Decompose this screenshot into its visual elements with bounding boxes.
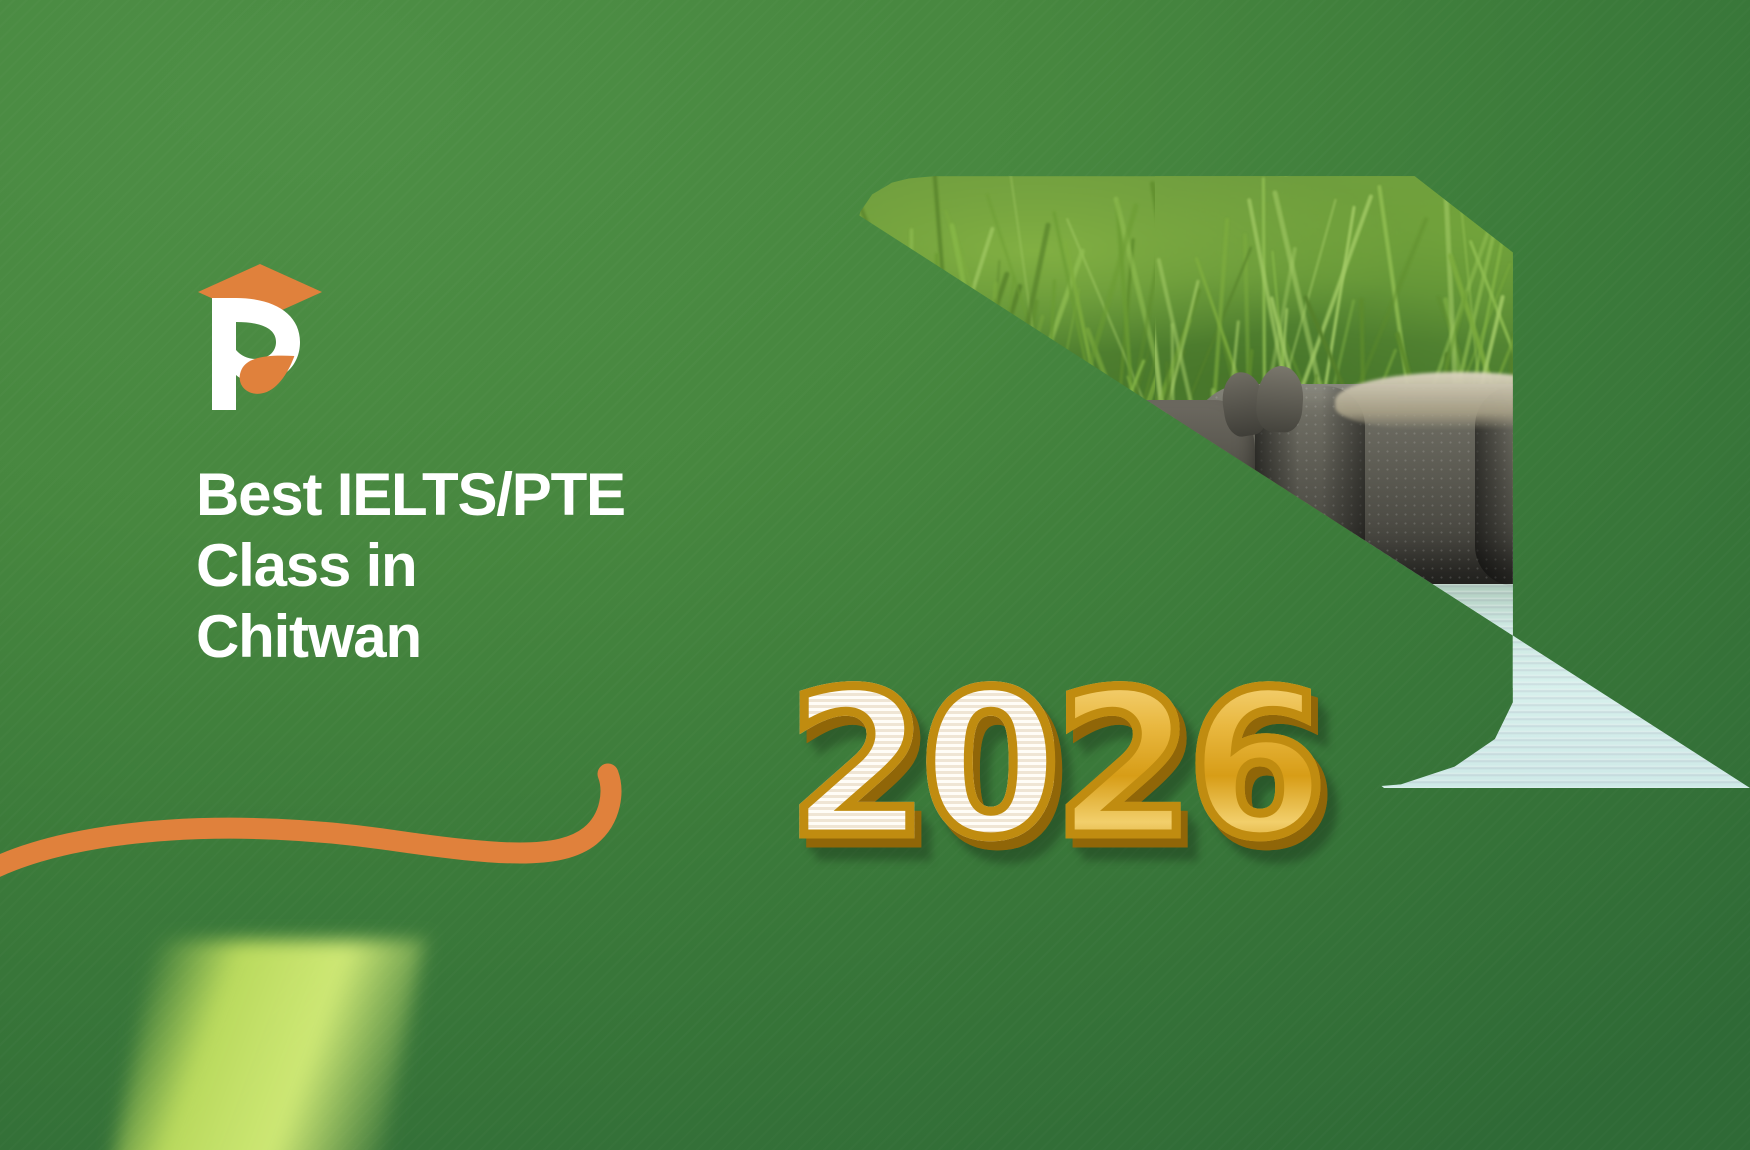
year-digit-3: 2 (1054, 666, 1187, 866)
promo-banner: Best IELTS/PTE Class in Chitwan 2 0 2 6 (0, 0, 1750, 1150)
left-content: Best IELTS/PTE Class in Chitwan (196, 262, 816, 713)
lime-light-beam-decoration (105, 940, 426, 1150)
year-digit-4: 6 (1188, 666, 1321, 866)
brand-logo[interactable] (196, 262, 324, 414)
orange-swoosh-decoration (0, 740, 710, 900)
year-2026: 2 0 2 6 (788, 666, 1321, 866)
page-title: Best IELTS/PTE Class in Chitwan (196, 460, 816, 672)
year-digit-2: 0 (921, 666, 1054, 866)
year-digit-1: 2 (788, 666, 921, 866)
rhino-horn (1054, 363, 1115, 440)
logo-letter-r (212, 298, 236, 410)
